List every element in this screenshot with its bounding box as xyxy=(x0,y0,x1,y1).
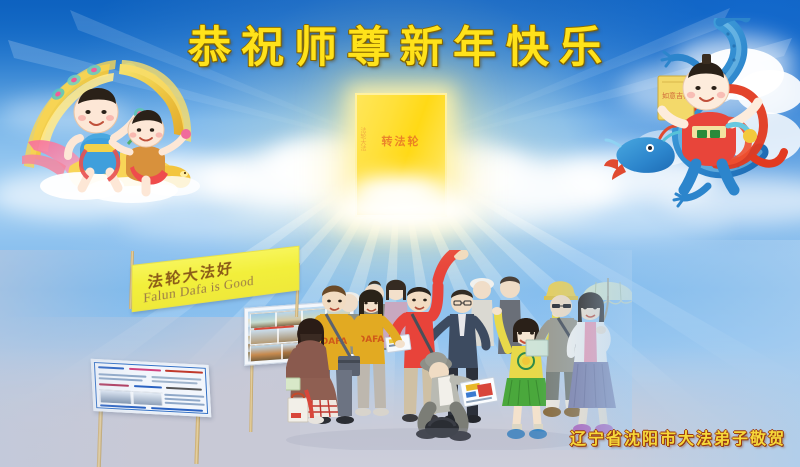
news-text xyxy=(165,402,205,406)
falun-dafa-banner: 法轮大法好 Falun Dafa is Good xyxy=(126,249,302,311)
book-title-text: 转法轮 xyxy=(355,133,447,149)
news-text xyxy=(152,380,198,384)
banner-cloth: 法轮大法好 Falun Dafa is Good xyxy=(132,246,300,313)
page-title: 恭祝师尊新年快乐 xyxy=(0,13,800,75)
news-text xyxy=(151,407,203,411)
signature-text: 辽宁省沈阳市大法弟子敬贺 xyxy=(570,425,786,449)
board-photo xyxy=(250,343,282,361)
news-text xyxy=(164,394,204,398)
news-text xyxy=(166,387,202,390)
new-year-greeting-poster: 恭祝师尊新年快乐 xyxy=(0,0,800,467)
news-text xyxy=(164,398,200,401)
left-atmospheric-haze xyxy=(0,250,140,467)
news-headline xyxy=(165,370,203,374)
dragon-head xyxy=(604,126,682,180)
cloud-front-of-book-2 xyxy=(352,176,442,210)
